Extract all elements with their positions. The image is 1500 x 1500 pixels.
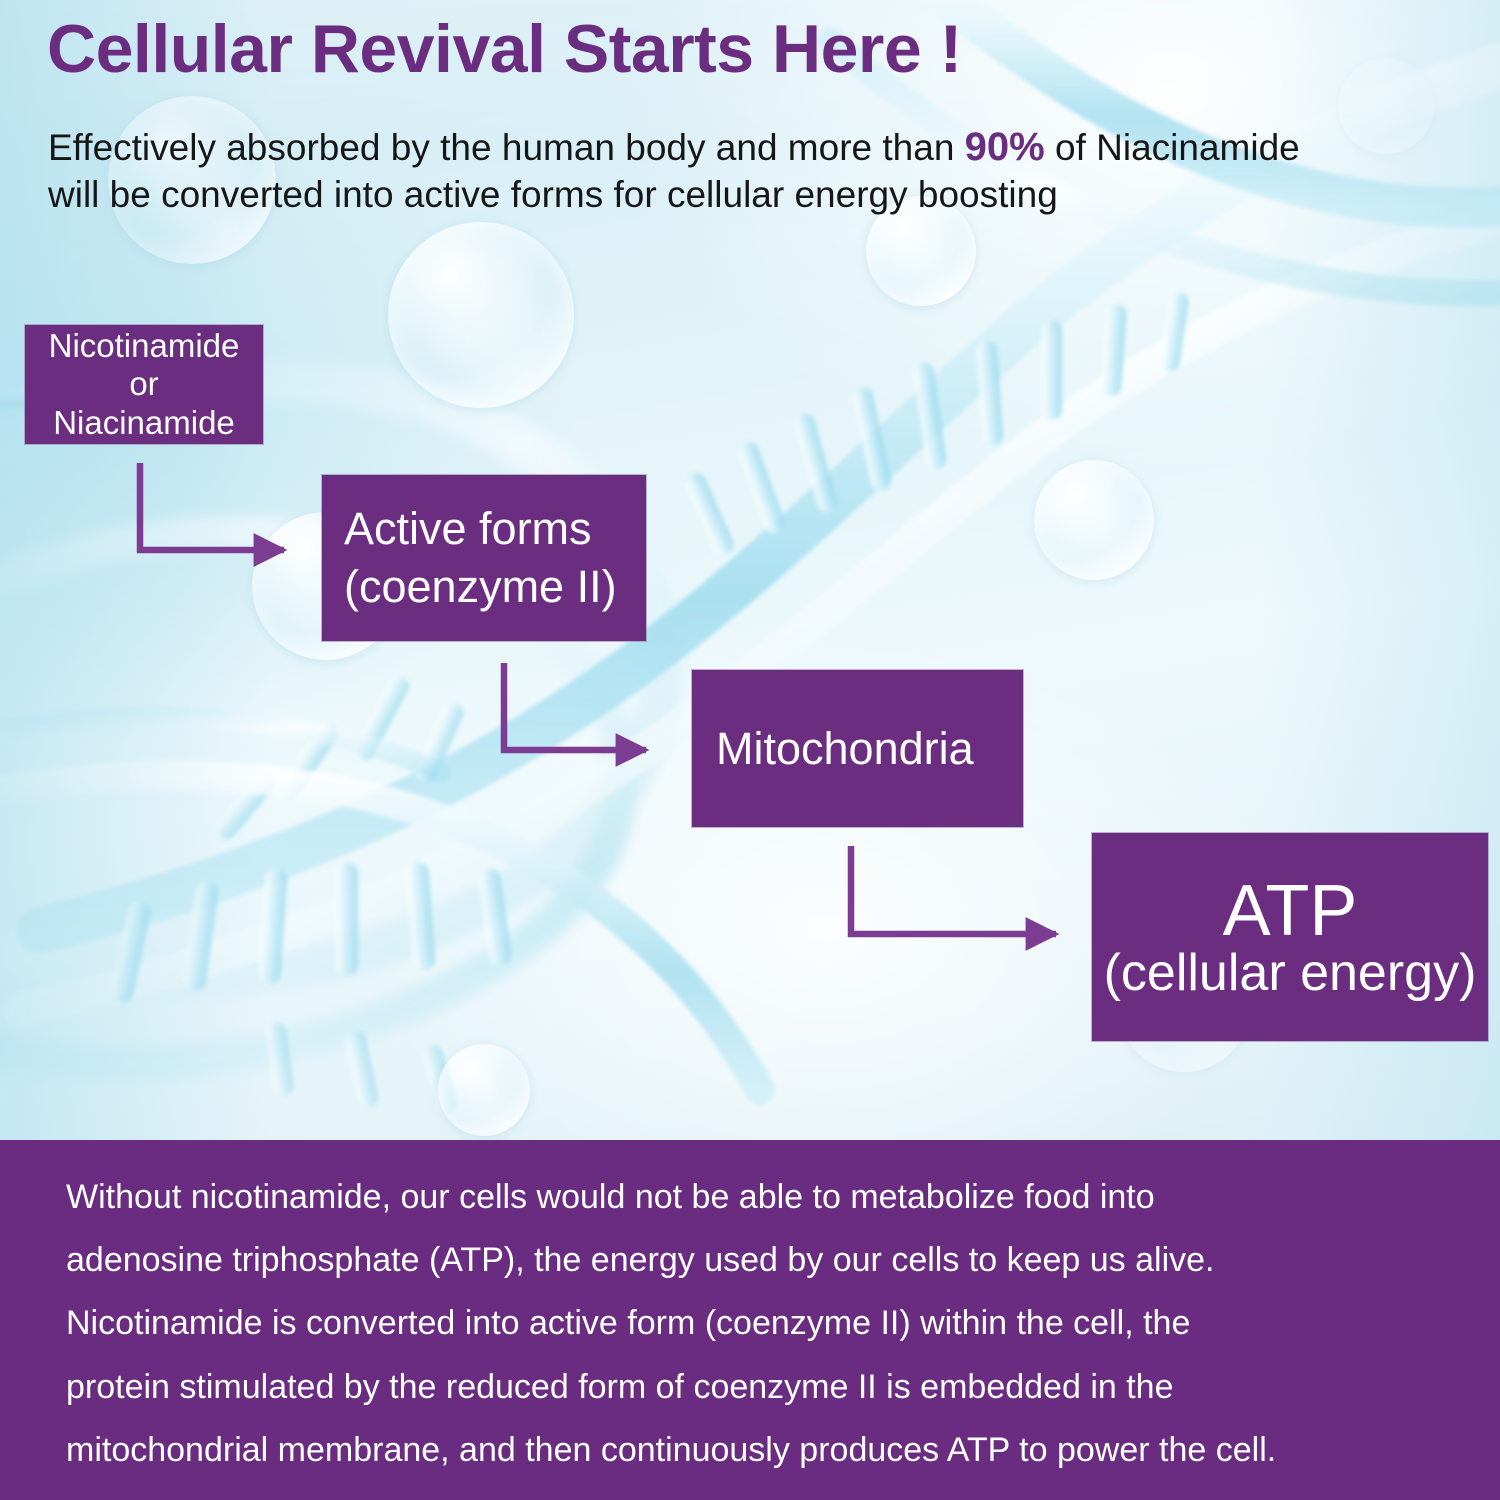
- percentage-highlight: 90%: [965, 125, 1045, 169]
- subtitle-line-2: will be converted into active forms for …: [48, 174, 1058, 215]
- paragraph-line: Nicotinamide is converted into active fo…: [66, 1292, 1466, 1355]
- flow-box-mitochondria-label: Mitochondria: [716, 723, 1023, 775]
- flow-box-line: (cellular energy): [1092, 947, 1488, 999]
- subtitle-part-1: Effectively absorbed by the human body a…: [48, 127, 965, 168]
- flow-box-active-forms: Active forms (coenzyme II): [322, 475, 646, 641]
- bottom-description-panel: Without nicotinamide, our cells would no…: [0, 1140, 1500, 1500]
- page-title: Cellular Revival Starts Here !: [47, 10, 962, 88]
- subtitle-part-2: of Niacinamide: [1045, 127, 1300, 168]
- flow-box-line: Nicotinamide: [25, 327, 263, 365]
- flow-box-line: ATP: [1092, 875, 1488, 947]
- paragraph-line: mitochondrial membrane, and then continu…: [66, 1419, 1466, 1482]
- flow-box-line: or: [25, 365, 263, 403]
- flow-box-atp: ATP (cellular energy): [1092, 833, 1488, 1041]
- infographic-page: Cellular Revival Starts Here ! Effective…: [0, 0, 1500, 1500]
- flow-box-atp-label: ATP (cellular energy): [1092, 875, 1488, 999]
- paragraph-line: protein stimulated by the reduced form o…: [66, 1356, 1466, 1419]
- flow-box-active-forms-label: Active forms (coenzyme II): [344, 500, 646, 615]
- bottom-paragraph: Without nicotinamide, our cells would no…: [66, 1166, 1466, 1482]
- paragraph-line: Without nicotinamide, our cells would no…: [66, 1166, 1466, 1229]
- flow-box-nicotinamide-label: Nicotinamide or Niacinamide: [25, 327, 263, 442]
- paragraph-line: adenosine triphosphate (ATP), the energy…: [66, 1229, 1466, 1292]
- flow-box-nicotinamide: Nicotinamide or Niacinamide: [25, 325, 263, 444]
- flow-box-line: Niacinamide: [25, 404, 263, 442]
- flow-box-line: Mitochondria: [716, 723, 1023, 775]
- flow-box-mitochondria: Mitochondria: [692, 670, 1023, 827]
- flow-box-line: (coenzyme II): [344, 558, 646, 616]
- flow-box-line: Active forms: [344, 500, 646, 558]
- page-subtitle: Effectively absorbed by the human body a…: [48, 122, 1458, 218]
